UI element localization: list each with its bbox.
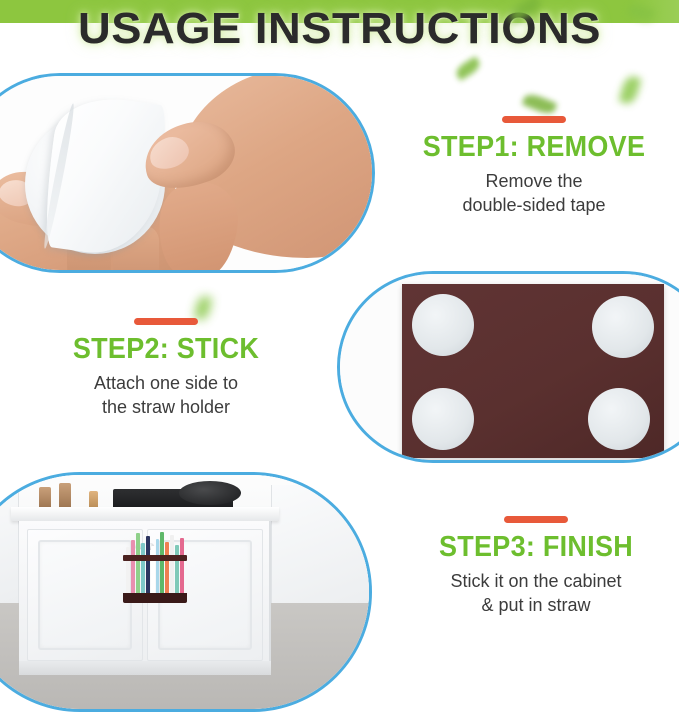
- adhesive-pad-top-right: [592, 296, 654, 358]
- step3-accent-rule: [504, 516, 568, 523]
- straw-11: [175, 545, 179, 599]
- leaf-icon-3: [454, 56, 483, 81]
- kitchen-countertop: [11, 507, 279, 521]
- straw-2: [131, 540, 135, 599]
- adhesive-pad-bottom-right: [588, 388, 650, 450]
- step1-accent-rule: [502, 116, 566, 123]
- step2-description-line2: the straw holder: [30, 396, 302, 419]
- step3-text-block: STEP3: FINISH Stick it on the cabinet & …: [398, 516, 674, 617]
- step3-illustration: [0, 475, 369, 709]
- step2-accent-rule: [134, 318, 198, 325]
- counter-jar-1: [39, 487, 51, 509]
- leaf-icon-5: [618, 74, 641, 105]
- side-cabinet-right: [271, 485, 372, 603]
- straw-holder-back-plate: [402, 284, 664, 458]
- step1-illustration: [0, 76, 372, 270]
- straw-5: [146, 536, 150, 599]
- straw-6: [151, 546, 155, 599]
- step3-description-line1: Stick it on the cabinet: [398, 570, 674, 593]
- page-title: USAGE INSTRUCTIONS: [0, 4, 679, 54]
- step1-image-panel: [0, 73, 375, 273]
- step2-title: STEP2: STICK: [40, 334, 293, 364]
- step1-description: Remove the double-sided tape: [398, 170, 670, 217]
- straw-9: [165, 542, 169, 599]
- step2-text-block: STEP2: STICK Attach one side to the stra…: [30, 318, 302, 419]
- colored-straws: [126, 527, 184, 599]
- cabinet-door-panel-inset: [38, 540, 132, 650]
- straw-holder-bottom-rail: [123, 593, 187, 603]
- straw-12: [180, 538, 184, 599]
- step1-description-line2: double-sided tape: [398, 194, 670, 217]
- step1-description-line1: Remove the: [398, 170, 670, 193]
- cabinet-toe-kick: [19, 661, 271, 675]
- leaf-icon-4: [522, 91, 558, 116]
- step2-description-line1: Attach one side to: [30, 372, 302, 395]
- step2-illustration: [340, 274, 679, 460]
- step3-title: STEP3: FINISH: [408, 532, 665, 562]
- straw-8: [160, 532, 164, 599]
- step2-image-panel: [337, 271, 679, 463]
- step2-description: Attach one side to the straw holder: [30, 372, 302, 419]
- adhesive-pad-bottom-left: [412, 388, 474, 450]
- counter-jar-2: [59, 483, 71, 509]
- straw-holder-top-rail: [123, 555, 187, 561]
- step3-description: Stick it on the cabinet & put in straw: [398, 570, 674, 617]
- step1-title: STEP1: REMOVE: [408, 132, 661, 162]
- adhesive-pad-top-left: [412, 294, 474, 356]
- frying-pan: [179, 481, 241, 505]
- straw-7: [156, 539, 160, 599]
- straw-10: [170, 535, 174, 599]
- straw-3: [136, 533, 140, 599]
- straw-4: [141, 543, 145, 599]
- step3-description-line2: & put in straw: [398, 594, 674, 617]
- step3-image-panel: [0, 472, 372, 712]
- side-cabinet-left: [0, 485, 19, 603]
- step1-text-block: STEP1: REMOVE Remove the double-sided ta…: [398, 116, 670, 217]
